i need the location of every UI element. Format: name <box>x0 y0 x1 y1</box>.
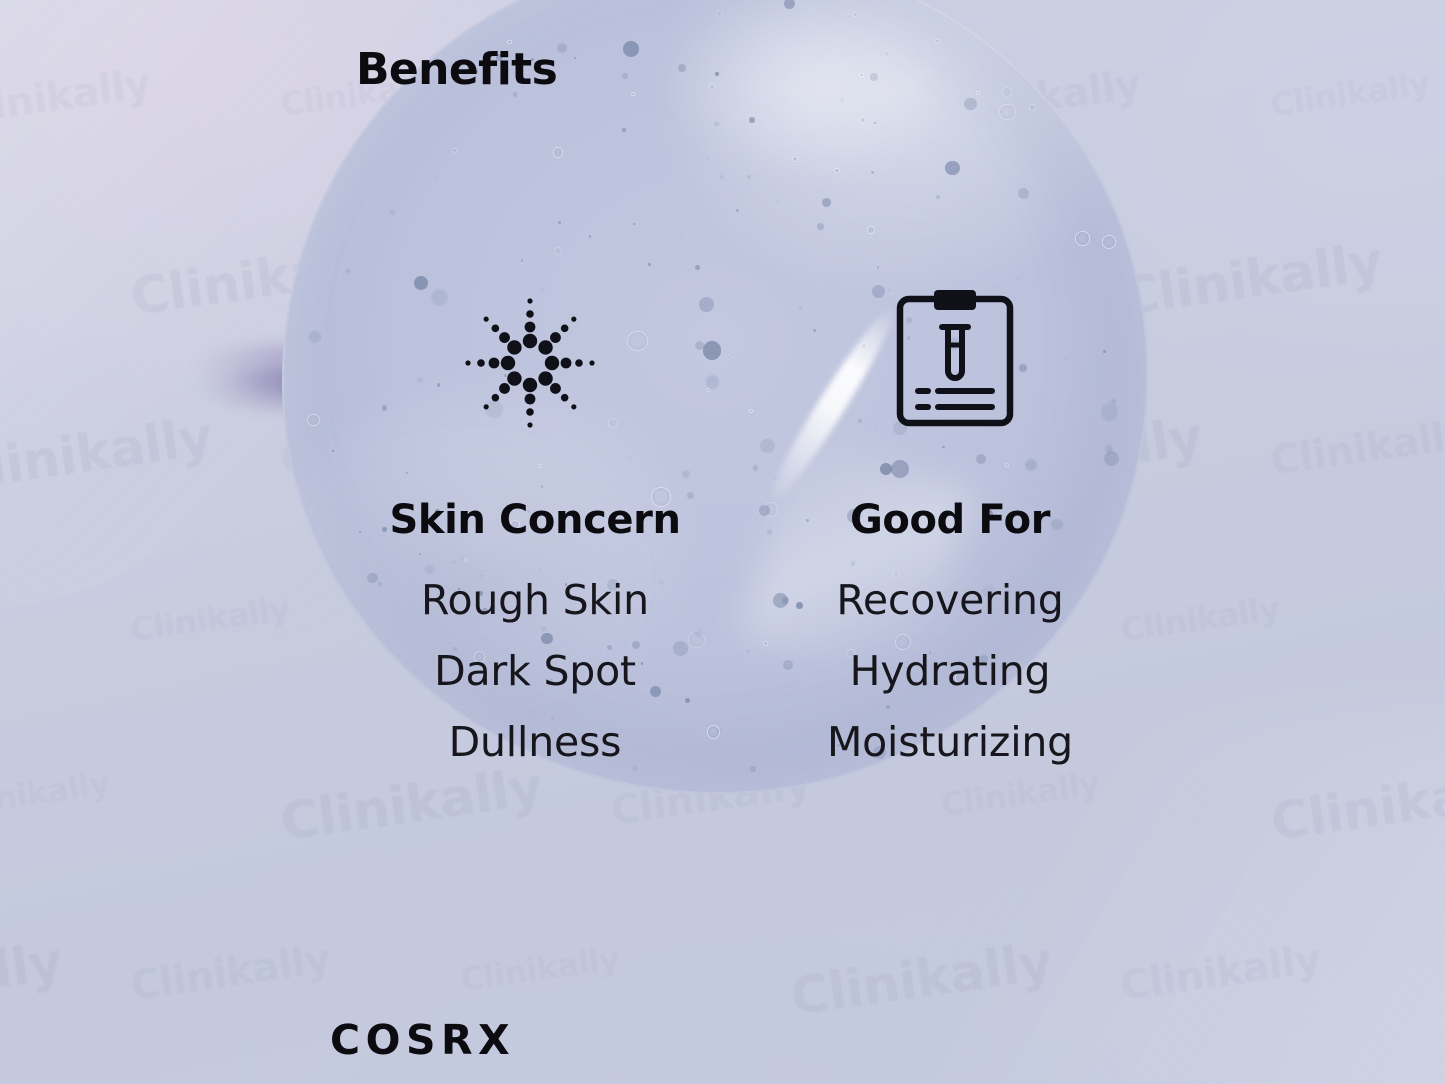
column-good-for: Good For Recovering Hydrating Moisturizi… <box>790 500 1110 763</box>
brand-logo-cosrx: COSRX <box>330 1016 515 1064</box>
list-item: Rough Skin <box>350 580 720 621</box>
column-heading-good-for: Good For <box>790 500 1110 540</box>
page-title: Benefits <box>356 44 557 95</box>
product-benefits-graphic: ClinikallyClinikallyClinikallyClinikally… <box>0 0 1445 1084</box>
column-heading-skin-concern: Skin Concern <box>350 500 720 540</box>
starburst-icon <box>455 288 605 438</box>
column-skin-concern: Skin Concern Rough Skin Dark Spot Dullne… <box>350 500 720 763</box>
list-item: Hydrating <box>790 651 1110 692</box>
clipboard-test-tube-icon <box>895 287 1015 429</box>
list-item: Recovering <box>790 580 1110 621</box>
list-item: Moisturizing <box>790 722 1110 763</box>
list-item: Dark Spot <box>350 651 720 692</box>
list-item: Dullness <box>350 722 720 763</box>
